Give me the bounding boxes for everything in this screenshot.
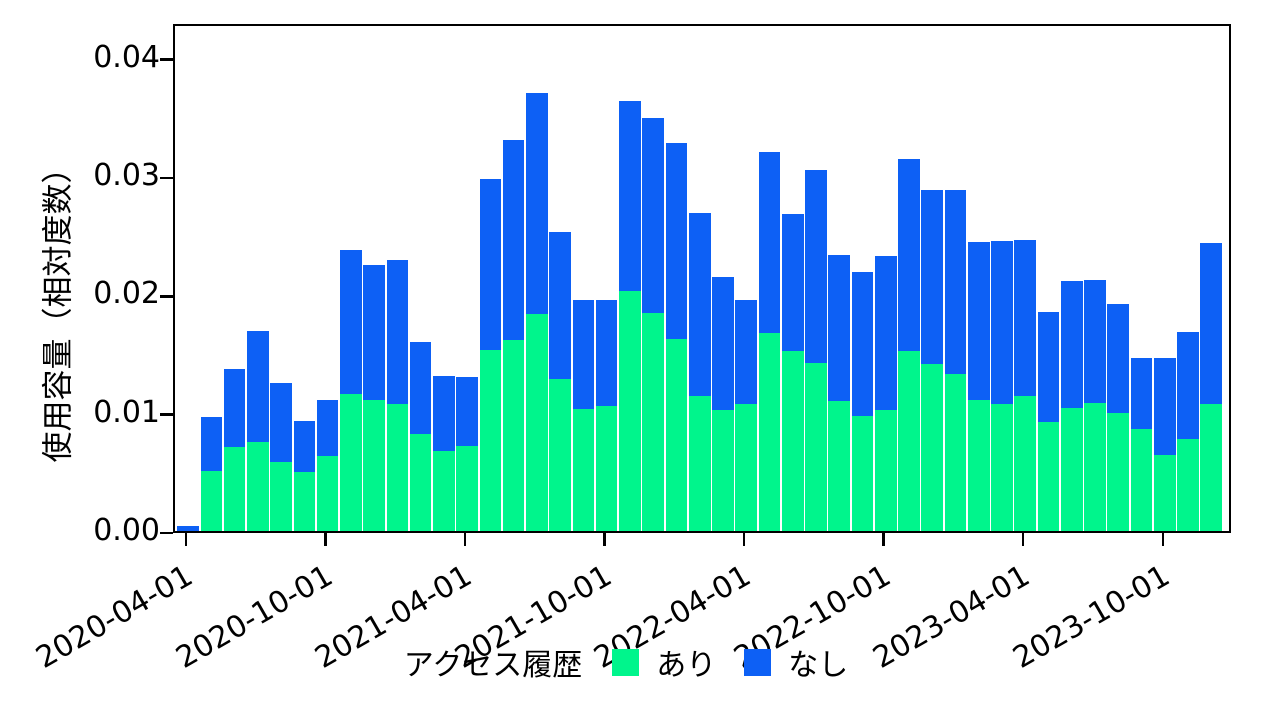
x-axis-tick-mark — [185, 533, 188, 546]
bar-stack[interactable] — [456, 24, 478, 531]
bar-segment-ari — [340, 394, 362, 531]
bar-segment-ari — [759, 333, 781, 531]
bar-segment-ari — [1200, 404, 1222, 531]
bar-stack[interactable] — [433, 24, 455, 531]
bar-stack[interactable] — [526, 24, 548, 531]
bar-segment-nashi — [1177, 332, 1199, 439]
bar-segment-nashi — [1107, 304, 1129, 413]
bar-segment-nashi — [1061, 281, 1083, 408]
bar-segment-ari — [689, 396, 711, 531]
bar-stack[interactable] — [619, 24, 641, 531]
bar-segment-nashi — [619, 101, 641, 290]
bar-segment-nashi — [201, 417, 223, 470]
bar-segment-ari — [991, 404, 1013, 531]
bar-segment-nashi — [387, 260, 409, 404]
bar-stack[interactable] — [1177, 24, 1199, 531]
bar-segment-ari — [1154, 455, 1176, 531]
bar-segment-nashi — [433, 376, 455, 451]
y-axis-tick-label: 0.03 — [60, 161, 160, 191]
bar-stack[interactable] — [573, 24, 595, 531]
x-axis-tick-mark — [882, 533, 885, 546]
bar-segment-nashi — [1200, 243, 1222, 404]
bar-segment-nashi — [317, 400, 339, 457]
bar-stack[interactable] — [1061, 24, 1083, 531]
bar-segment-nashi — [642, 118, 664, 313]
bar-segment-nashi — [177, 526, 199, 531]
legend-label-nashi: なし — [788, 640, 848, 684]
bar-segment-nashi — [224, 369, 246, 447]
y-axis-tick-label: 0.02 — [60, 279, 160, 309]
bar-stack[interactable] — [480, 24, 502, 531]
bar-segment-ari — [224, 447, 246, 531]
bar-segment-nashi — [991, 241, 1013, 404]
bar-segment-ari — [1061, 408, 1083, 531]
bar-segment-ari — [642, 313, 664, 531]
bar-stack[interactable] — [689, 24, 711, 531]
bar-segment-nashi — [1154, 358, 1176, 455]
bar-stack[interactable] — [968, 24, 990, 531]
bar-segment-ari — [410, 434, 432, 531]
bar-segment-ari — [573, 409, 595, 531]
bar-segment-ari — [712, 410, 734, 531]
bar-segment-nashi — [921, 190, 943, 364]
y-axis-tick-label: 0.04 — [60, 43, 160, 73]
bar-segment-ari — [387, 404, 409, 531]
x-axis-tick-mark — [464, 533, 467, 546]
bar-segment-nashi — [270, 383, 292, 462]
bar-segment-nashi — [805, 170, 827, 363]
bar-segment-nashi — [294, 421, 316, 472]
bar-stack[interactable] — [735, 24, 757, 531]
bar-segment-nashi — [247, 331, 269, 442]
bar-segment-nashi — [666, 143, 688, 339]
bar-segment-nashi — [549, 232, 571, 380]
bar-stack[interactable] — [759, 24, 781, 531]
bar-segment-ari — [201, 471, 223, 531]
bar-stack[interactable] — [1038, 24, 1060, 531]
bar-segment-ari — [503, 340, 525, 531]
bar-segment-ari — [1084, 403, 1106, 531]
bar-segment-nashi — [782, 214, 804, 351]
x-axis-tick-mark — [603, 533, 606, 546]
bar-segment-ari — [875, 410, 897, 531]
bar-segment-ari — [1131, 429, 1153, 531]
bar-segment-nashi — [828, 255, 850, 401]
bar-segment-ari — [1014, 396, 1036, 531]
bar-stack[interactable] — [921, 24, 943, 531]
bar-stack[interactable] — [549, 24, 571, 531]
bar-segment-nashi — [968, 242, 990, 399]
bar-segment-ari — [782, 351, 804, 531]
bar-segment-nashi — [596, 300, 618, 405]
bar-segment-nashi — [573, 300, 595, 409]
bar-segment-nashi — [759, 152, 781, 333]
bar-segment-nashi — [875, 256, 897, 410]
bar-stack[interactable] — [1084, 24, 1106, 531]
bar-segment-nashi — [1014, 240, 1036, 396]
bar-stack[interactable] — [340, 24, 362, 531]
legend-swatch-nashi — [744, 649, 771, 676]
bar-segment-ari — [968, 400, 990, 531]
bar-segment-nashi — [340, 250, 362, 393]
x-axis-tick-mark — [1162, 533, 1165, 546]
bar-segment-nashi — [898, 159, 920, 351]
bar-segment-ari — [549, 379, 571, 531]
bar-segment-ari — [619, 291, 641, 531]
bar-stack[interactable] — [642, 24, 664, 531]
bar-stack[interactable] — [201, 24, 223, 531]
bar-segment-ari — [247, 442, 269, 531]
y-axis-tick-label: 0.00 — [60, 516, 160, 546]
bar-stack[interactable] — [875, 24, 897, 531]
bar-stack[interactable] — [782, 24, 804, 531]
bar-stack[interactable] — [805, 24, 827, 531]
bar-stack[interactable] — [712, 24, 734, 531]
y-axis-tick-label: 0.01 — [60, 398, 160, 428]
bar-segment-ari — [596, 406, 618, 531]
bar-stack[interactable] — [1107, 24, 1129, 531]
bar-segment-ari — [828, 401, 850, 531]
bar-stack[interactable] — [596, 24, 618, 531]
bar-segment-nashi — [480, 179, 502, 349]
bar-segment-nashi — [1038, 312, 1060, 422]
legend-entry-ari[interactable]: あり — [612, 640, 716, 684]
bar-segment-ari — [433, 451, 455, 531]
bar-stack[interactable] — [317, 24, 339, 531]
bar-stack[interactable] — [945, 24, 967, 531]
x-axis-tick-mark — [1022, 533, 1025, 546]
bar-stack[interactable] — [666, 24, 688, 531]
bar-segment-ari — [735, 404, 757, 531]
bar-segment-ari — [852, 416, 874, 531]
bar-stack[interactable] — [410, 24, 432, 531]
y-axis-tick-mark — [160, 295, 173, 298]
bar-segment-nashi — [689, 213, 711, 396]
bar-segment-nashi — [456, 377, 478, 446]
bar-segment-nashi — [1084, 280, 1106, 403]
bar-segment-nashi — [410, 342, 432, 434]
bar-stack[interactable] — [898, 24, 920, 531]
bar-stack[interactable] — [363, 24, 385, 531]
chart-figure: 使用容量（相対度数） 0.040.030.020.010.00 2020-04-… — [0, 0, 1280, 720]
bar-segment-nashi — [945, 190, 967, 373]
bar-segment-ari — [317, 456, 339, 531]
bar-segment-ari — [294, 472, 316, 531]
bar-segment-nashi — [526, 93, 548, 314]
bar-segment-ari — [363, 400, 385, 531]
chart-legend: アクセス履歴 あり なし — [0, 640, 1280, 684]
bar-segment-nashi — [712, 277, 734, 411]
legend-swatch-ari — [612, 649, 639, 676]
bar-segment-nashi — [1131, 358, 1153, 429]
bar-stack[interactable] — [503, 24, 525, 531]
bar-stack[interactable] — [177, 24, 199, 531]
y-axis-tick-mark — [160, 413, 173, 416]
bar-stack[interactable] — [294, 24, 316, 531]
bar-segment-ari — [898, 351, 920, 531]
bar-segment-ari — [921, 364, 943, 531]
legend-label-ari: あり — [656, 640, 716, 684]
bar-stack[interactable] — [991, 24, 1013, 531]
bar-segment-ari — [945, 374, 967, 531]
legend-entry-nashi[interactable]: なし — [744, 640, 848, 684]
bar-segment-ari — [1038, 422, 1060, 531]
bar-stack[interactable] — [852, 24, 874, 531]
bar-stack[interactable] — [1200, 24, 1222, 531]
bar-segment-nashi — [735, 300, 757, 404]
bar-stack[interactable] — [224, 24, 246, 531]
bar-series-container — [175, 26, 1229, 531]
y-axis-tick-mark — [160, 532, 173, 535]
bar-stack[interactable] — [247, 24, 269, 531]
bar-segment-ari — [456, 446, 478, 531]
bar-stack[interactable] — [1154, 24, 1176, 531]
bar-segment-ari — [526, 314, 548, 531]
bar-stack[interactable] — [828, 24, 850, 531]
bar-stack[interactable] — [1014, 24, 1036, 531]
plot-area — [173, 24, 1231, 533]
bar-stack[interactable] — [387, 24, 409, 531]
legend-title: アクセス履歴 — [404, 640, 583, 684]
bar-stack[interactable] — [270, 24, 292, 531]
x-axis-tick-mark — [324, 533, 327, 546]
y-axis-tick-mark — [160, 58, 173, 61]
bar-segment-ari — [666, 339, 688, 531]
bar-segment-ari — [480, 350, 502, 531]
bar-segment-nashi — [852, 272, 874, 416]
bar-segment-ari — [270, 462, 292, 531]
bar-segment-nashi — [503, 140, 525, 340]
bar-segment-ari — [805, 363, 827, 531]
bar-segment-nashi — [363, 265, 385, 400]
bar-segment-ari — [1177, 439, 1199, 531]
y-axis-tick-mark — [160, 177, 173, 180]
x-axis-tick-mark — [743, 533, 746, 546]
bar-stack[interactable] — [1131, 24, 1153, 531]
bar-segment-ari — [1107, 413, 1129, 531]
